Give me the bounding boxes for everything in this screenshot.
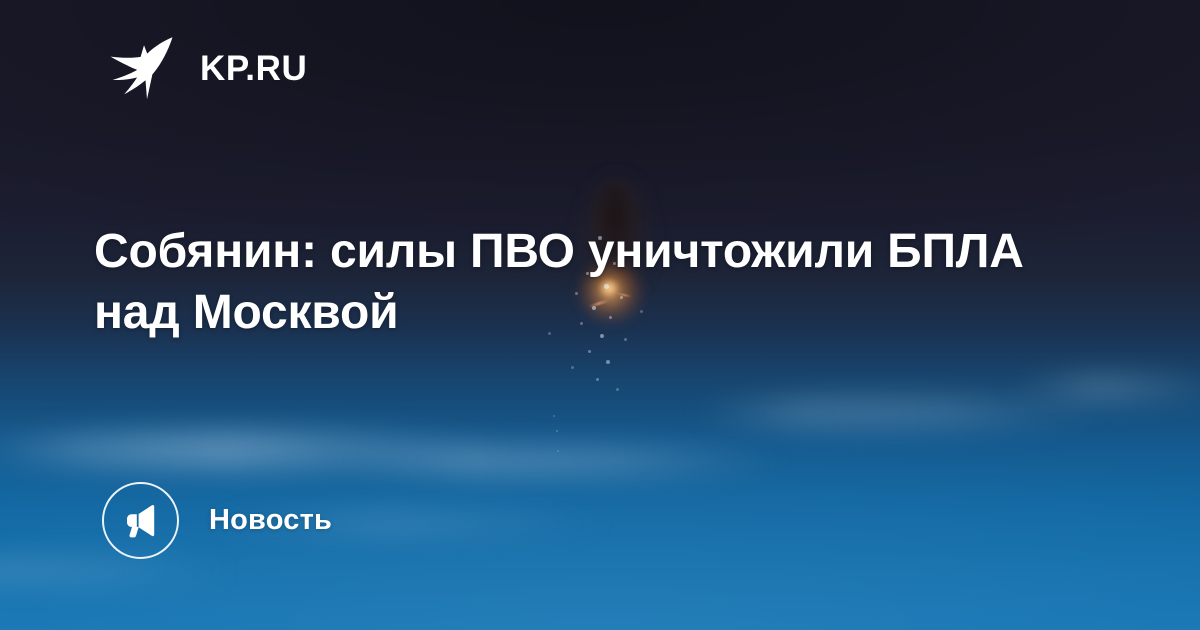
status-badge-label: Новость <box>209 506 332 535</box>
badge-icon-circle <box>102 482 179 559</box>
status-badge[interactable]: Новость <box>102 482 332 559</box>
brand-wordmark: KP.RU <box>200 51 307 86</box>
megaphone-icon <box>121 501 161 541</box>
page-title: Собянин: силы ПВО уничтожили БПЛА над Мо… <box>94 222 1054 344</box>
news-share-card: KP.RU Собянин: силы ПВО уничтожили БПЛА … <box>0 0 1200 630</box>
swallow-bird-logo-icon[interactable] <box>104 36 178 100</box>
brand-header[interactable]: KP.RU <box>104 36 307 100</box>
